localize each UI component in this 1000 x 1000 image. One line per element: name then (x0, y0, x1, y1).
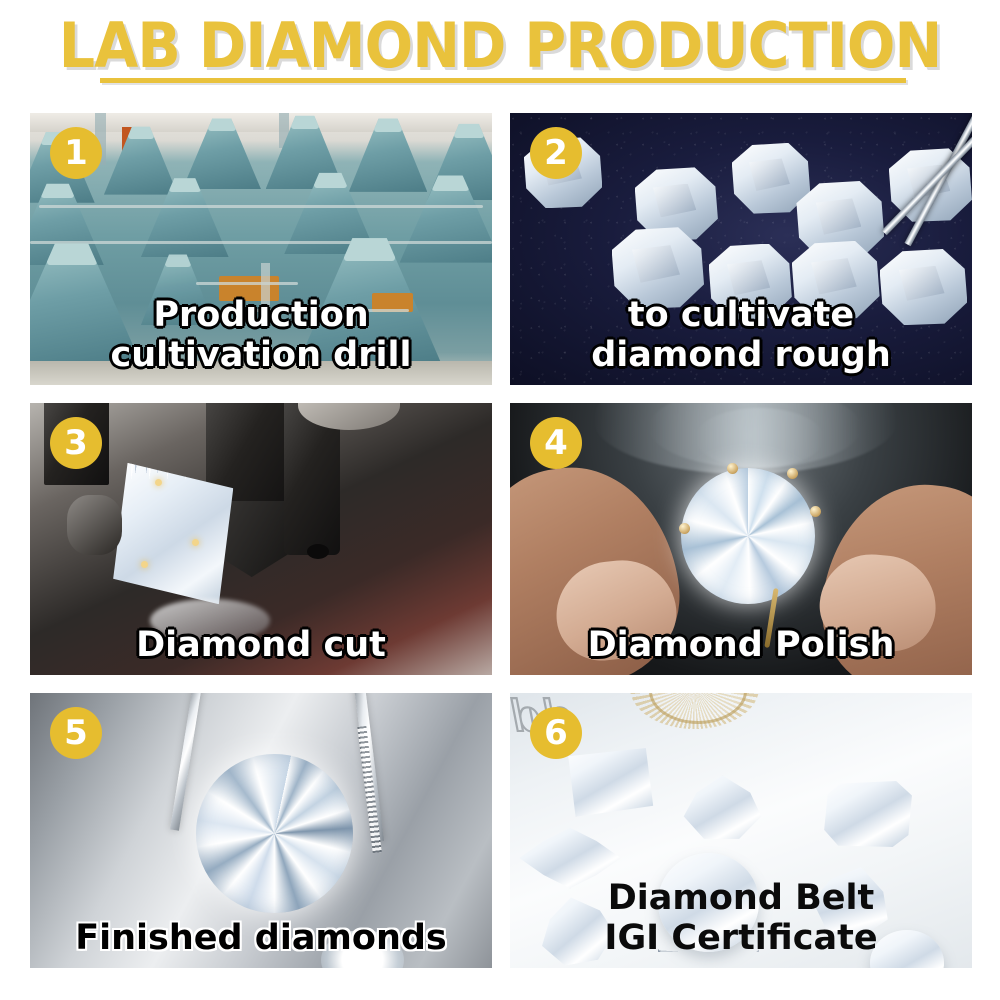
step-caption-5: Finished diamonds (30, 918, 492, 958)
step-panel-2[interactable]: 2 to cultivate diamond rough (510, 113, 972, 385)
poster-root: LAB DIAMOND PRODUCTION (0, 0, 1000, 1000)
step-panel-6[interactable]: ⅆⅆ 6 Diamond Belt IGI Certificate (510, 693, 972, 968)
step-caption-2: to cultivate diamond rough (510, 295, 972, 375)
page-title-block: LAB DIAMOND PRODUCTION (0, 14, 1000, 78)
step-panel-3[interactable]: 3 Diamond cut (30, 403, 492, 675)
step-number-badge-4: 4 (530, 417, 582, 469)
step-panel-1[interactable]: 1 Production cultivation drill (30, 113, 492, 385)
step-caption-4: Diamond Polish (510, 625, 972, 665)
step-caption-1: Production cultivation drill (30, 295, 492, 375)
step-caption-3: Diamond cut (30, 625, 492, 665)
step-number-badge-5: 5 (50, 707, 102, 759)
steps-grid: 1 Production cultivation drill 2 to cult… (30, 113, 972, 968)
step-number-badge-1: 1 (50, 127, 102, 179)
step-panel-5[interactable]: 5 Finished diamonds (30, 693, 492, 968)
step-number-badge-3: 3 (50, 417, 102, 469)
step-number-badge-2: 2 (530, 127, 582, 179)
step-caption-6: Diamond Belt IGI Certificate (510, 878, 972, 958)
step-panel-4[interactable]: 4 Diamond Polish (510, 403, 972, 675)
step-number-badge-6: 6 (530, 707, 582, 759)
title-underline (100, 78, 906, 83)
page-title: LAB DIAMOND PRODUCTION (40, 14, 960, 78)
